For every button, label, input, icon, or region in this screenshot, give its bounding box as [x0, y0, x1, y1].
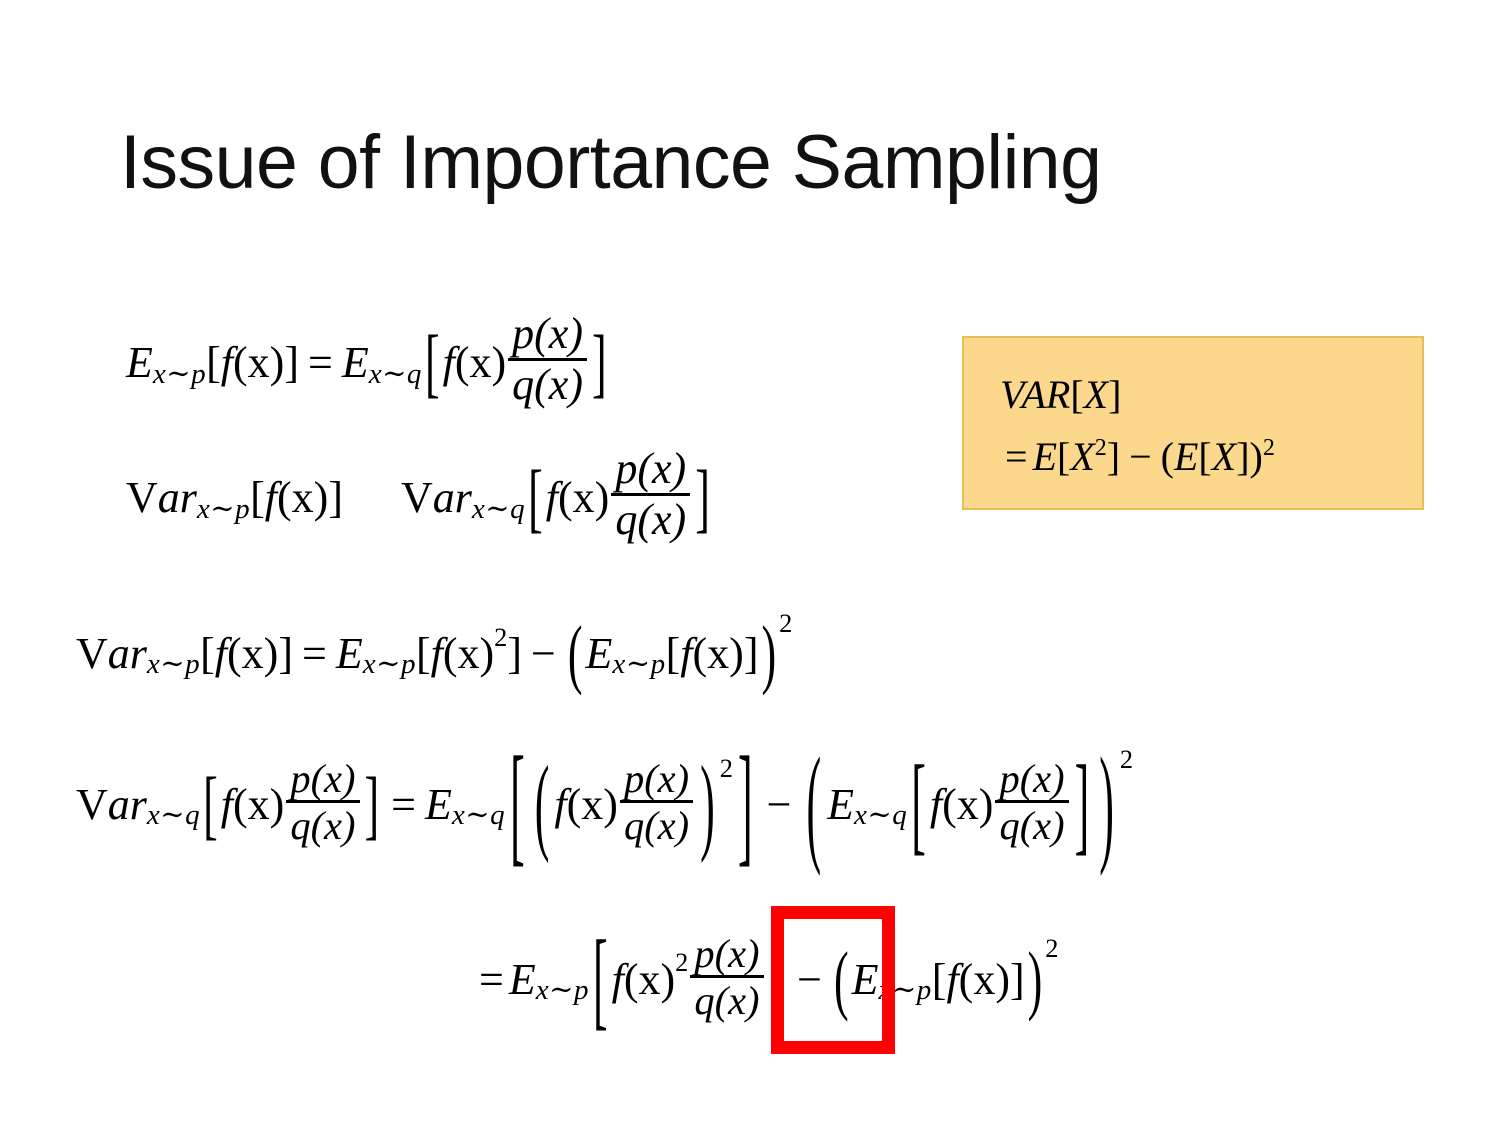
tilde-icon: ∼ [485, 493, 510, 525]
fraction-p-over-q-highlighted: p(x)q(x) [690, 933, 763, 1022]
function-f: f [265, 472, 277, 523]
fraction-denominator: q(x) [995, 800, 1068, 846]
bracket-open: [ [416, 636, 431, 671]
bracket-close: ] [592, 332, 607, 394]
bracket-close: ] [738, 751, 753, 858]
bracket-open: [ [510, 751, 525, 858]
bracket-close: ] [328, 480, 343, 515]
fraction-numerator: p(x) [995, 758, 1068, 800]
tilde-icon: ∼ [465, 799, 490, 831]
subscript-distribution: q [892, 799, 907, 831]
exponent: 2 [494, 622, 507, 653]
random-variable: X [1212, 434, 1236, 479]
variance-operator-ar: ar [433, 472, 472, 523]
bracket-close: ] [284, 345, 299, 380]
bracket-open: [ [528, 467, 543, 529]
expectation-operator-lhs: E [126, 337, 153, 388]
subscript-distribution: q [185, 799, 200, 831]
equals-sign: = [479, 954, 504, 1005]
equation-expectation-identity: Ex∼p[f(x)] = Ex∼q[f(x)p(x)q(x)] [126, 315, 610, 411]
bracket-open: [ [200, 636, 215, 671]
expectation-operator: E [827, 779, 854, 830]
function-argument: (x) [227, 628, 278, 679]
function-argument: (x) [624, 954, 675, 1005]
function-f: f [680, 628, 692, 679]
tilde-icon: ∼ [626, 648, 651, 680]
tilde-icon: ∼ [549, 974, 574, 1006]
function-f: f [221, 779, 233, 830]
paren-open: ( [1161, 441, 1174, 473]
function-argument: (x) [959, 954, 1010, 1005]
subscript-variable: x [472, 493, 485, 525]
expectation-operator-rhs: E [342, 337, 369, 388]
fraction-denominator: q(x) [620, 800, 693, 846]
subscript-distribution: p [574, 974, 589, 1006]
variance-operator: VAR [1000, 372, 1070, 417]
subscript-variable: x [153, 358, 166, 390]
bracket-close: ] [1075, 760, 1090, 848]
function-f: f [612, 954, 624, 1005]
fraction-p-over-q: p(x)q(x) [611, 447, 690, 543]
tilde-icon: ∼ [166, 358, 191, 390]
random-variable: X [1084, 372, 1108, 417]
variance-operator-V: V [401, 472, 433, 523]
bracket-open: [ [932, 962, 947, 997]
fraction-denominator: q(x) [508, 358, 587, 408]
fraction-p-over-q: p(x)q(x) [508, 312, 587, 408]
tilde-icon: ∼ [892, 974, 917, 1006]
expectation-operator: E [336, 628, 363, 679]
tilde-icon: ∼ [867, 799, 892, 831]
fraction-p-over-q: p(x)q(x) [995, 758, 1068, 847]
paren-open: ( [834, 948, 849, 1010]
bracket-close: ] [1108, 379, 1121, 411]
bracket-open: [ [206, 345, 221, 380]
bracket-open: [ [425, 332, 440, 394]
page-title: Issue of Importance Sampling [120, 118, 1101, 208]
subscript-distribution: p [191, 358, 206, 390]
function-argument: (x) [277, 472, 328, 523]
function-f: f [221, 337, 233, 388]
equals-sign: = [1005, 434, 1028, 479]
paren-close: ) [1250, 441, 1263, 473]
exponent: 2 [675, 947, 688, 978]
fraction-numerator: p(x) [508, 312, 587, 358]
bracket-open: [ [1057, 441, 1070, 473]
function-argument: (x) [567, 779, 618, 830]
variance-operator-ar: ar [108, 628, 147, 679]
expectation-operator: E [586, 628, 613, 679]
minus-sign: − [531, 628, 556, 679]
subscript-variable: x [879, 974, 892, 1006]
expectation-operator: E [1033, 434, 1057, 479]
expectation-operator: E [425, 779, 452, 830]
expectation-operator: E [509, 954, 536, 1005]
subscript-distribution: p [235, 493, 250, 525]
equation-variance-pair: Varx∼p[f(x)] Varx∼q[f(x)p(x)q(x)] [126, 450, 713, 546]
variance-operator-V: V [76, 779, 108, 830]
subscript-distribution: q [407, 358, 422, 390]
bracket-open: [ [203, 773, 218, 835]
function-argument: (x) [443, 628, 494, 679]
subscript-variable: x [612, 648, 625, 680]
paren-open: ( [806, 752, 821, 858]
bracket-close: ] [1107, 441, 1120, 473]
exponent: 2 [1120, 744, 1133, 775]
exponent: 2 [1045, 933, 1058, 964]
function-argument: (x) [455, 337, 506, 388]
subscript-distribution: p [185, 648, 200, 680]
subscript-variable: x [363, 648, 376, 680]
minus-sign: − [797, 954, 822, 1005]
fraction-denominator: q(x) [611, 493, 690, 543]
paren-close: ) [700, 761, 715, 847]
fraction-numerator: p(x) [690, 933, 763, 975]
subscript-distribution: q [490, 799, 505, 831]
bracket-close: ] [1010, 962, 1025, 997]
equals-sign: = [308, 337, 333, 388]
function-argument: (x) [558, 472, 609, 523]
fraction-numerator: p(x) [611, 447, 690, 493]
minus-sign: − [1129, 434, 1152, 479]
function-f: f [431, 628, 443, 679]
bracket-close: ] [695, 467, 710, 529]
bracket-open: [ [1198, 441, 1211, 473]
tilde-icon: ∼ [160, 799, 185, 831]
function-argument: (x) [233, 779, 284, 830]
subscript-distribution: p [651, 648, 666, 680]
expectation-operator: E [1174, 434, 1198, 479]
bracket-close: ] [278, 636, 293, 671]
function-f: f [546, 472, 558, 523]
function-f: f [930, 779, 942, 830]
subscript-variable: x [197, 493, 210, 525]
tilde-icon: ∼ [382, 358, 407, 390]
subscript-distribution: p [917, 974, 932, 1006]
bracket-close: ] [365, 773, 380, 835]
subscript-variable: x [452, 799, 465, 831]
function-argument: (x) [942, 779, 993, 830]
equation-variance-q-expansion: Varx∼q[f(x)p(x)q(x)] = Ex∼q[(f(x)p(x)q(x… [76, 760, 1133, 849]
paren-open: ( [535, 761, 550, 847]
variance-operator-ar: ar [158, 472, 197, 523]
equation-variance-p-expansion: Varx∼p[f(x)] = Ex∼p[f(x)2] − (Ex∼p[f(x)]… [76, 628, 792, 679]
variance-operator-ar: ar [108, 779, 147, 830]
function-argument: (x) [693, 628, 744, 679]
callout-line-1: VAR[X] [1000, 364, 1422, 426]
bracket-close: ] [770, 935, 785, 1023]
bracket-open: [ [666, 636, 681, 671]
fraction-numerator: p(x) [286, 758, 359, 800]
subscript-variable: x [147, 799, 160, 831]
bracket-open: [ [1070, 379, 1083, 411]
paren-close: ) [761, 623, 776, 685]
fraction-denominator: q(x) [690, 975, 763, 1021]
function-f: f [443, 337, 455, 388]
subscript-variable: x [147, 648, 160, 680]
paren-close: ) [1099, 752, 1114, 858]
bracket-close: ] [744, 636, 759, 671]
subscript-variable: x [854, 799, 867, 831]
equation-final-result: = Ex∼p[f(x)2p(x)q(x)] − (Ex∼p[f(x)])2 [474, 935, 1059, 1024]
subscript-distribution: q [510, 493, 525, 525]
tilde-icon: ∼ [160, 648, 185, 680]
callout-line-2: =E[X2]−(E[X])2 [1000, 426, 1422, 494]
bracket-close: ] [507, 636, 522, 671]
exponent: 2 [1263, 417, 1275, 479]
fraction-p-over-q: p(x)q(x) [286, 758, 359, 847]
paren-open: ( [568, 623, 583, 685]
equals-sign: = [391, 779, 416, 830]
minus-sign: − [767, 779, 792, 830]
variance-identity-callout: VAR[X] =E[X2]−(E[X])2 [962, 336, 1424, 510]
expectation-operator: E [852, 954, 879, 1005]
bracket-open: [ [911, 760, 926, 848]
exponent: 2 [1095, 417, 1107, 479]
fraction-denominator: q(x) [286, 800, 359, 846]
subscript-variable: x [536, 974, 549, 1006]
exponent: 2 [779, 608, 792, 639]
equals-sign: = [302, 628, 327, 679]
fraction-numerator: p(x) [620, 758, 693, 800]
tilde-icon: ∼ [376, 648, 401, 680]
subscript-variable: x [369, 358, 382, 390]
bracket-close: ] [1236, 441, 1249, 473]
function-f: f [215, 628, 227, 679]
function-f: f [554, 779, 566, 830]
tilde-icon: ∼ [210, 493, 235, 525]
subscript-distribution: p [401, 648, 416, 680]
exponent: 2 [720, 753, 733, 784]
variance-operator-V: V [76, 628, 108, 679]
variance-operator-V: V [126, 472, 158, 523]
fraction-p-over-q: p(x)q(x) [620, 758, 693, 847]
function-f: f [946, 954, 958, 1005]
function-argument: (x) [233, 337, 284, 388]
bracket-open: [ [250, 480, 265, 515]
paren-close: ) [1028, 948, 1043, 1010]
bracket-open: [ [593, 935, 608, 1023]
random-variable: X [1070, 434, 1094, 479]
